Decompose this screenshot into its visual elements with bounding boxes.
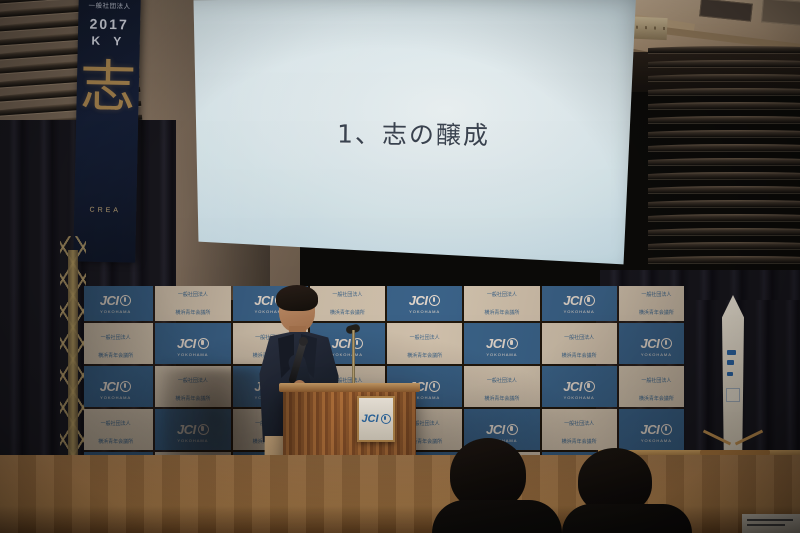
- backdrop-text-block: 一般社団法人横浜青年会議所: [484, 369, 519, 405]
- backdrop-tile: 一般社団法人横浜青年会議所: [619, 366, 684, 407]
- banner-organization: 一般社団法人: [78, 0, 140, 11]
- pennant-mark: [727, 360, 734, 365]
- backdrop-tile: JCIYOKOHAMA: [542, 366, 617, 407]
- backdrop-japanese-text: 横浜青年会議所: [639, 396, 674, 402]
- backdrop-tile: 一般社団法人横浜青年会議所: [464, 286, 539, 321]
- banner-kanji: 志: [74, 51, 139, 202]
- banner-tagline: CREA: [74, 206, 136, 214]
- speaker-hair: [276, 285, 318, 311]
- jci-roundel-icon: [661, 338, 672, 349]
- banner-year: 2017: [78, 15, 140, 32]
- backdrop-tile: JCIYOKOHAMA: [387, 286, 462, 321]
- pennant-plaque: [726, 388, 740, 402]
- backdrop-text-block: 一般社団法人横浜青年会議所: [98, 326, 133, 362]
- backdrop-text-block: 一般社団法人横浜青年会議所: [175, 286, 210, 319]
- jci-wordmark: JCI: [486, 423, 505, 436]
- backdrop-text-block: 一般社団法人横浜青年会議所: [484, 286, 519, 319]
- audience-member: [562, 448, 692, 533]
- backdrop-text-block: 一般社団法人横浜青年会議所: [639, 369, 674, 405]
- jci-logo-subtext: YOKOHAMA: [84, 309, 153, 314]
- backdrop-tile: JCIYOKOHAMA: [84, 286, 153, 321]
- backdrop-japanese-text: 横浜青年会議所: [562, 353, 597, 359]
- jci-logo-subtext: YOKOHAMA: [619, 352, 684, 357]
- audience-shoulders: [432, 500, 562, 533]
- jci-roundel-icon: [661, 424, 672, 435]
- jci-wordmark: JCI: [563, 294, 582, 307]
- backdrop-japanese-text: 一般社団法人: [101, 335, 131, 341]
- jci-logo-subtext: YOKOHAMA: [84, 395, 153, 400]
- backdrop-japanese-text: 横浜青年会議所: [562, 439, 597, 445]
- backdrop-japanese-text: 一般社団法人: [641, 292, 671, 298]
- backdrop-japanese-text: 横浜青年会議所: [175, 310, 210, 316]
- jci-wordmark: JCI: [563, 380, 582, 393]
- backdrop-tile: 一般社団法人横浜青年会議所: [84, 409, 153, 450]
- backdrop-tile: JCIYOKOHAMA: [619, 409, 684, 450]
- backdrop-tile: JCIYOKOHAMA: [542, 286, 617, 321]
- jci-logo-icon: JCI: [409, 294, 441, 307]
- jci-roundel-icon: [198, 338, 209, 349]
- jci-logo-subtext: YOKOHAMA: [155, 352, 230, 357]
- pennant-mark: [727, 350, 736, 355]
- backdrop-japanese-text: 一般社団法人: [487, 378, 517, 384]
- jci-wordmark: JCI: [177, 337, 196, 350]
- projection-screen: 1、志の醸成: [136, 0, 636, 280]
- jci-roundel-icon: [507, 424, 518, 435]
- backdrop-japanese-text: 一般社団法人: [564, 421, 594, 427]
- jci-roundel-icon: [429, 295, 440, 306]
- jci-wordmark: JCI: [486, 337, 505, 350]
- backdrop-japanese-text: 一般社団法人: [178, 292, 208, 298]
- jci-logo-subtext: YOKOHAMA: [542, 395, 617, 400]
- backdrop-tile: JCIYOKOHAMA: [619, 323, 684, 364]
- jci-roundel-icon: [120, 381, 131, 392]
- backdrop-japanese-text: 横浜青年会議所: [407, 353, 442, 359]
- backdrop-tile: 一般社団法人横浜青年会議所: [387, 323, 462, 364]
- backdrop-japanese-text: 横浜青年会議所: [484, 310, 519, 316]
- backdrop-tile: JCIYOKOHAMA: [155, 323, 230, 364]
- jci-logo-icon: JCI: [100, 380, 132, 393]
- jci-logo-subtext: YOKOHAMA: [619, 438, 684, 443]
- backdrop-tile: 一般社団法人横浜青年会議所: [155, 286, 230, 321]
- backdrop-japanese-text: 一般社団法人: [641, 378, 671, 384]
- backdrop-tile: 一般社団法人横浜青年会議所: [84, 323, 153, 364]
- pennant-banner: [722, 295, 744, 455]
- jci-wordmark: JCI: [100, 380, 119, 393]
- backdrop-japanese-text: 横浜青年会議所: [98, 439, 133, 445]
- jci-roundel-icon: [584, 381, 595, 392]
- conference-photo-scene: 1、志の醸成 一般社団法人 2017 K Y 志 CREA JCIYOKOHAM…: [0, 0, 800, 533]
- backdrop-text-block: 一般社団法人横浜青年会議所: [562, 326, 597, 362]
- backdrop-tile: JCIYOKOHAMA: [84, 366, 153, 407]
- slide-heading: 1、志の醸成: [136, 113, 636, 154]
- backdrop-japanese-text: 横浜青年会議所: [639, 310, 674, 316]
- ceiling-vent-icon: [761, 0, 800, 26]
- event-banner: 一般社団法人 2017 K Y 志 CREA: [73, 0, 141, 263]
- audience-shoulders: [562, 504, 692, 533]
- jci-roundel-icon: [584, 295, 595, 306]
- jci-logo-icon: JCI: [486, 337, 518, 350]
- jci-logo-icon: JCI: [563, 294, 595, 307]
- foreground-paper: [742, 514, 800, 533]
- jci-logo-subtext: YOKOHAMA: [387, 309, 462, 314]
- pennant-stand-base: [700, 450, 770, 455]
- banner-initials: K Y: [78, 33, 140, 48]
- backdrop-text-block: 一般社団法人横浜青年会議所: [98, 412, 133, 448]
- jci-wordmark: JCI: [641, 423, 660, 436]
- jci-logo-icon: JCI: [177, 337, 209, 350]
- jci-logo-icon: JCI: [100, 294, 132, 307]
- backdrop-tile: 一般社団法人横浜青年会議所: [619, 286, 684, 321]
- backdrop-text-block: 一般社団法人横浜青年会議所: [407, 326, 442, 362]
- jci-logo-icon: JCI: [641, 337, 673, 350]
- jci-logo-subtext: YOKOHAMA: [464, 352, 539, 357]
- pennant-mark: [727, 372, 733, 376]
- backdrop-japanese-text: 一般社団法人: [487, 292, 517, 298]
- backdrop-japanese-text: 一般社団法人: [564, 335, 594, 341]
- jci-logo-icon: JCI: [486, 423, 518, 436]
- jci-roundel-icon: [507, 338, 518, 349]
- backdrop-tile: JCIYOKOHAMA: [464, 323, 539, 364]
- backdrop-text-block: 一般社団法人横浜青年会議所: [562, 412, 597, 448]
- jci-wordmark: JCI: [100, 294, 119, 307]
- jci-roundel-icon: [429, 381, 440, 392]
- audience-member: [432, 438, 562, 533]
- jci-wordmark: JCI: [641, 337, 660, 350]
- jci-wordmark: JCI: [409, 294, 428, 307]
- jci-logo-subtext: YOKOHAMA: [542, 309, 617, 314]
- jci-roundel-icon: [381, 414, 391, 424]
- podium-jci-sign: JCI: [357, 396, 395, 442]
- jci-roundel-icon: [120, 295, 131, 306]
- jci-wordmark: JCI: [361, 413, 378, 425]
- jci-logo-icon: JCI: [361, 413, 390, 425]
- jci-logo-icon: JCI: [641, 423, 673, 436]
- podium-top-surface: [279, 383, 420, 392]
- jci-logo-icon: JCI: [563, 380, 595, 393]
- backdrop-tile: 一般社団法人横浜青年会議所: [464, 366, 539, 407]
- backdrop-japanese-text: 横浜青年会議所: [98, 353, 133, 359]
- backdrop-tile: 一般社団法人横浜青年会議所: [542, 323, 617, 364]
- backdrop-japanese-text: 一般社団法人: [101, 421, 131, 427]
- backdrop-text-block: 一般社団法人横浜青年会議所: [639, 286, 674, 319]
- backdrop-japanese-text: 一般社団法人: [410, 335, 440, 341]
- backdrop-japanese-text: 横浜青年会議所: [484, 396, 519, 402]
